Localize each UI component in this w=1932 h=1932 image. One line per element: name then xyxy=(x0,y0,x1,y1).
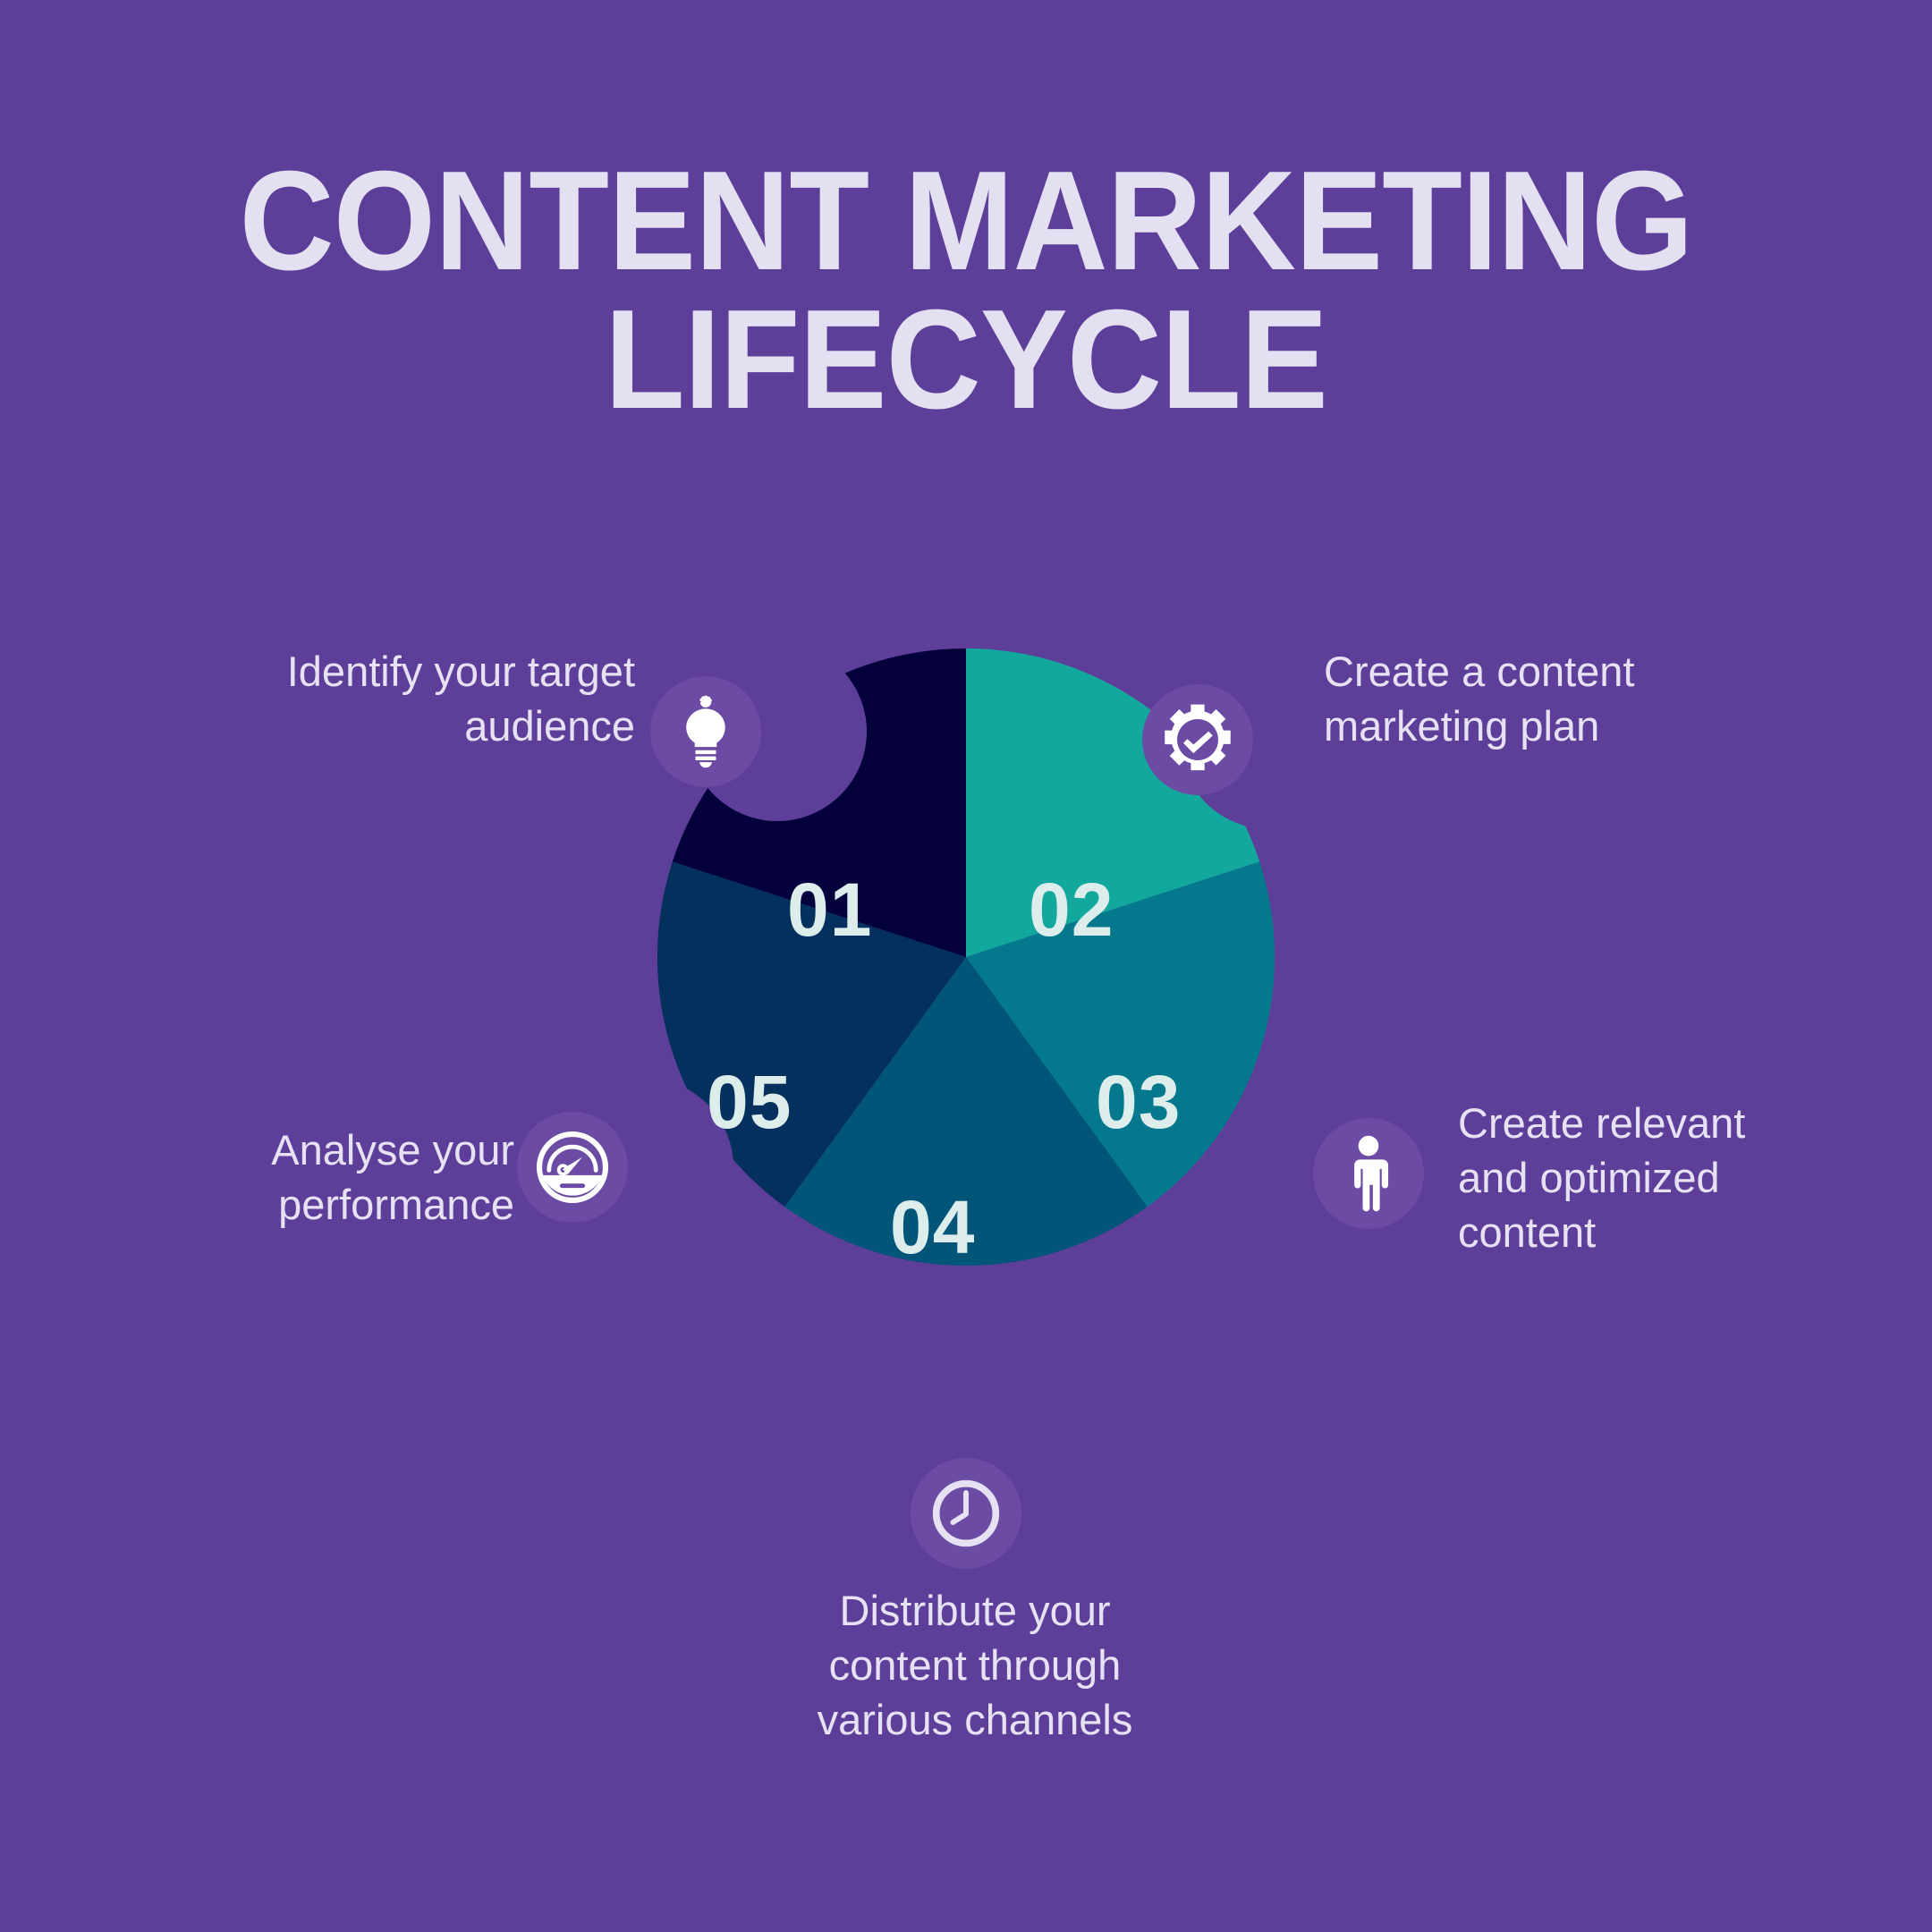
step-label-01: Identify your target audience xyxy=(170,644,635,753)
step-number-03: 03 xyxy=(1096,1064,1181,1140)
step-label-04: Distribute your content through various … xyxy=(769,1583,1181,1747)
step-badge-05[interactable] xyxy=(517,1112,628,1223)
infographic-canvas: CONTENT MARKETING LIFECYCLE xyxy=(0,0,1932,1932)
person-icon xyxy=(1338,1135,1399,1212)
gauge-icon xyxy=(534,1129,611,1206)
lightbulb-icon xyxy=(669,695,742,768)
title-line-1: CONTENT MARKETING xyxy=(68,152,1865,291)
step-number-04: 04 xyxy=(890,1190,975,1265)
step-badge-04[interactable] xyxy=(911,1458,1021,1569)
step-number-01: 01 xyxy=(787,872,872,947)
step-label-05: Analyse your performance xyxy=(139,1123,514,1232)
step-number-02: 02 xyxy=(1029,872,1114,947)
step-badge-03[interactable] xyxy=(1313,1118,1424,1229)
step-badge-01[interactable] xyxy=(650,676,761,787)
step-label-02: Create a content marketing plan xyxy=(1324,644,1735,753)
page-title: CONTENT MARKETING LIFECYCLE xyxy=(0,152,1932,429)
title-line-2: LIFECYCLE xyxy=(68,291,1865,429)
clock-icon xyxy=(929,1477,1003,1550)
step-badge-02[interactable] xyxy=(1142,684,1253,795)
gear-check-icon xyxy=(1160,702,1235,777)
step-number-05: 05 xyxy=(707,1064,792,1140)
step-label-03: Create relevant and optimized content xyxy=(1458,1096,1843,1259)
